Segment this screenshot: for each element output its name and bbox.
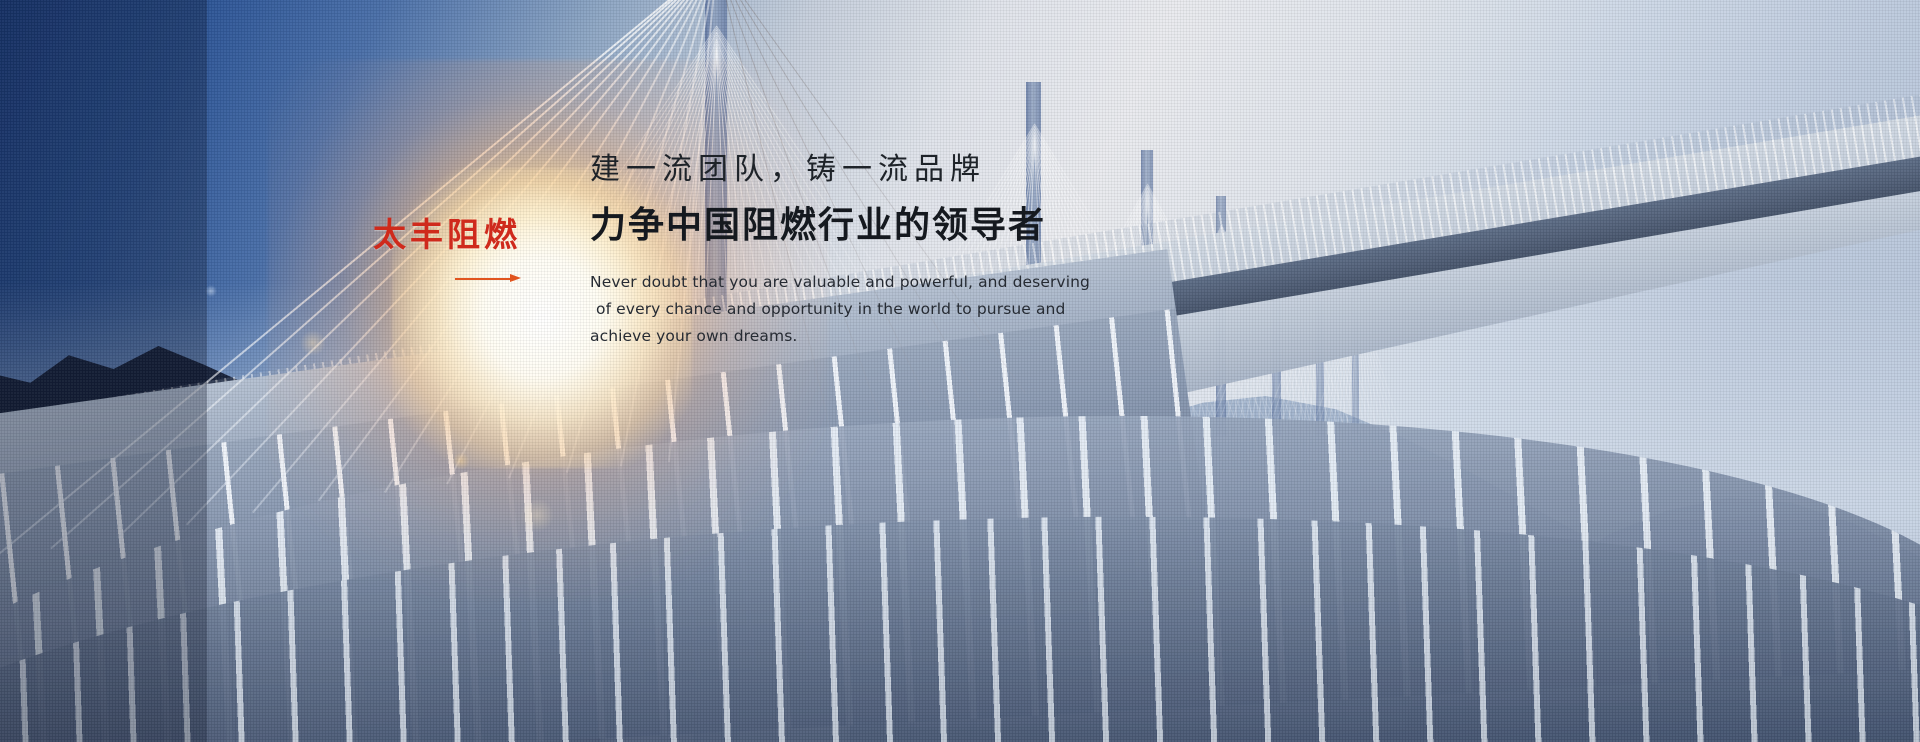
slogan-line-2: 力争中国阻燃行业的领导者 bbox=[590, 204, 1110, 247]
banner-content: 太丰阻燃 建一流团队，铸一流品牌 力争中国阻燃行业的领导者 Never doub… bbox=[0, 0, 1920, 742]
slogan-paragraph: Never doubt that you are valuable and po… bbox=[590, 269, 1060, 349]
brand-logo[interactable]: 太丰阻燃 bbox=[373, 218, 543, 283]
brand-logo-text: 太丰阻燃 bbox=[373, 218, 543, 251]
slogan-block: 建一流团队，铸一流品牌 力争中国阻燃行业的领导者 Never doubt tha… bbox=[590, 152, 1110, 349]
slogan-paragraph-line-2: of every chance and opportunity in the w… bbox=[590, 296, 1060, 323]
slogan-line-1: 建一流团队，铸一流品牌 bbox=[590, 152, 1110, 188]
slogan-paragraph-line-3: achieve your own dreams. bbox=[590, 323, 1060, 350]
hero-banner: 太丰阻燃 建一流团队，铸一流品牌 力争中国阻燃行业的领导者 Never doub… bbox=[0, 0, 1920, 742]
arrow-right-icon bbox=[455, 273, 521, 283]
slogan-paragraph-line-1: Never doubt that you are valuable and po… bbox=[590, 269, 1060, 296]
